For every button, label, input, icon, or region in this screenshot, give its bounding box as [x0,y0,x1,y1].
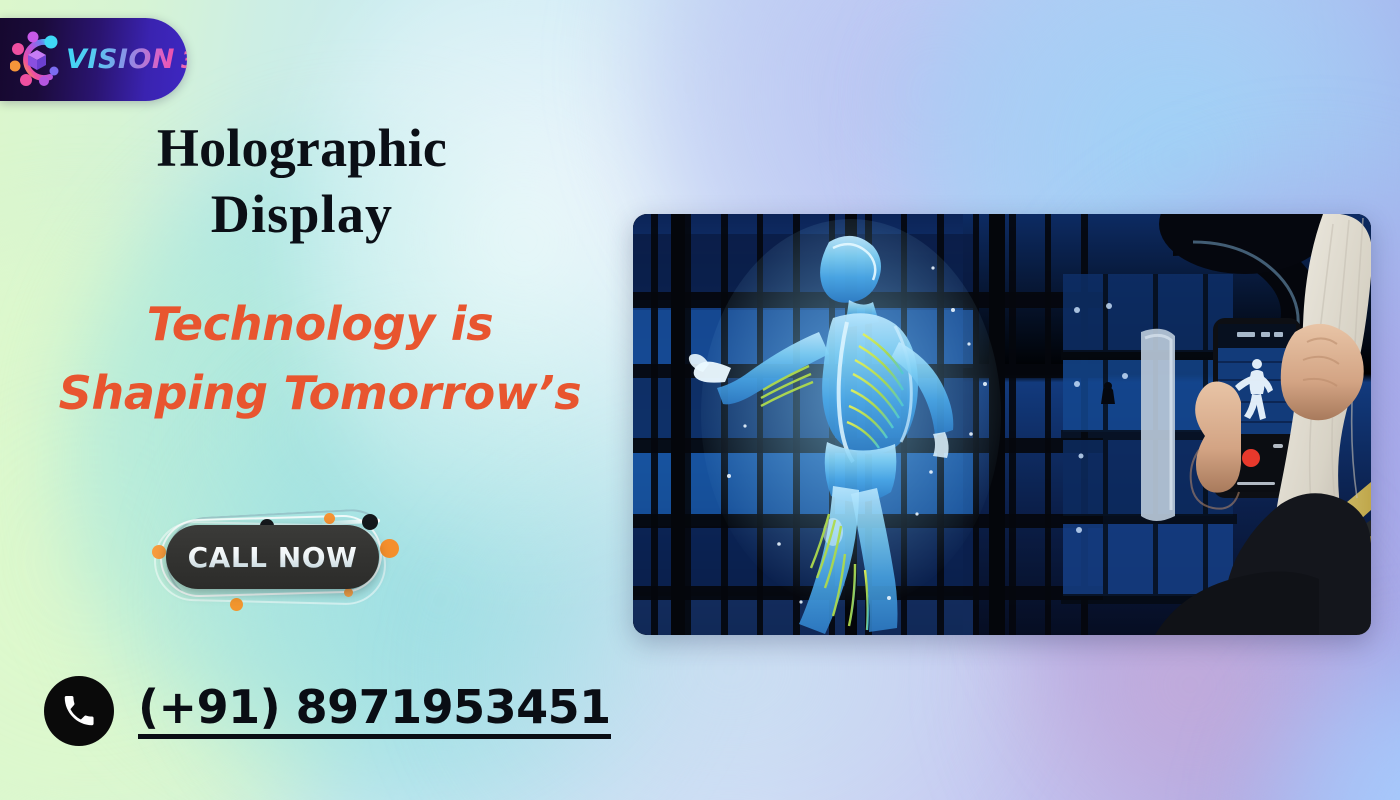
cta-dot-black-right [362,514,378,530]
headline-line-1: Holographic [62,116,542,182]
page-title: Holographic Display [62,116,542,248]
headline-line-2: Display [62,182,542,248]
logo-suffix-text: 3D [181,48,187,74]
brand-logo-badge[interactable]: VISION3D [0,18,187,101]
cta-dot-orange-bottom [230,598,243,611]
logo-brand-text: VISION [66,44,175,75]
logo-wordmark: VISION3D [66,46,187,73]
subheadline-line-1: Technology is [20,290,620,359]
cta-label: CALL NOW [188,541,358,574]
hero-image [633,214,1371,635]
phone-handset-icon [44,676,114,746]
vision3d-atom-cube-logo-icon [10,31,64,89]
phone-number-text[interactable]: (+91) 8971953451 [138,683,611,738]
cta-pill[interactable]: CALL NOW [166,525,379,589]
blob-blue-bottom-right [1230,640,1400,800]
cta-dot-orange-bottom-right [344,588,353,597]
contact-phone-row[interactable]: (+91) 8971953451 [44,676,611,746]
cta-dot-orange-right [380,539,399,558]
subheadline: Technology is Shaping Tomorrow’s [20,290,620,428]
subheadline-line-2: Shaping Tomorrow’s [20,359,620,428]
call-now-button[interactable]: CALL NOW [152,503,400,615]
promo-banner: VISION3D Holographic Display Technology … [0,0,1400,800]
cta-dot-orange-left [152,545,166,559]
cta-dot-orange-top [324,513,335,524]
